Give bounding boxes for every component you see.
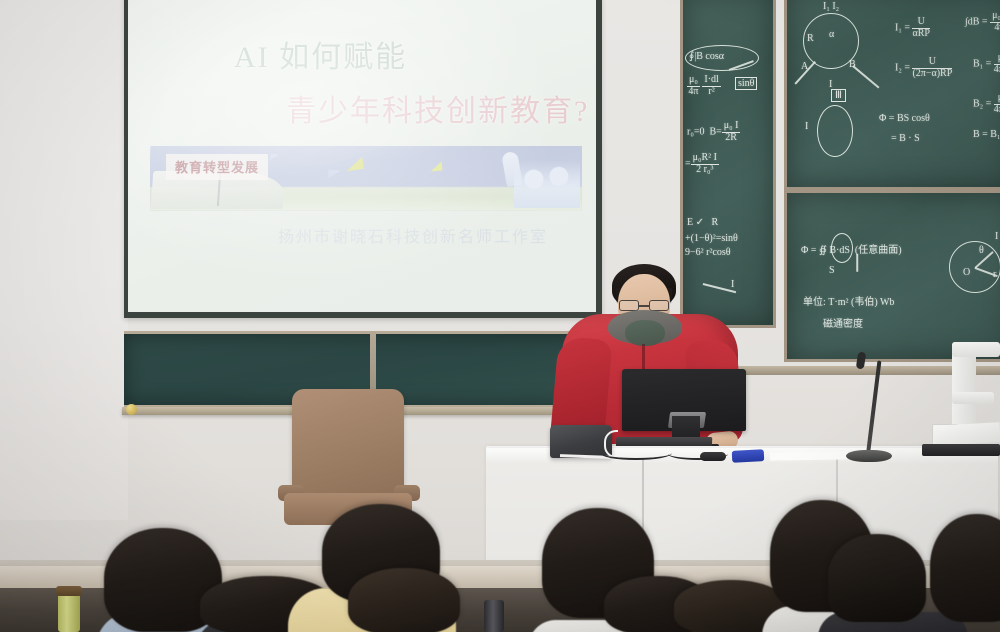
slide-title-line1: AI 如何赋能 <box>234 32 407 76</box>
chalk-formula: B₁ = μ₀4πR <box>973 53 1000 75</box>
projection-screen: AI 如何赋能 青少年科技创新教育? 教育转型发展 扬州市谢晓石科技创新名师工作… <box>128 0 596 312</box>
bottle-cap <box>56 586 82 596</box>
glasses-bridge <box>639 305 649 307</box>
chalk-formula: B₂ = μ₀4πR <box>973 93 1000 115</box>
microphone-base[interactable] <box>846 450 892 462</box>
chalk-label: r <box>993 269 996 280</box>
lecture-hall-scene: ∮|B cosα μ₀4π I·dlr² sinθ r₀=0 B=μ₀ I2R … <box>0 0 1000 632</box>
paper-plane-icon <box>430 161 443 171</box>
audience-head <box>828 534 926 622</box>
chalk-formula: I₂ = U(2π−α)RP <box>895 57 952 79</box>
chalk-formula: B = B₁ + B₂ <box>973 129 1000 140</box>
audience-head <box>348 568 460 632</box>
presenter-collar <box>608 310 682 344</box>
document-camera-arm <box>952 392 994 404</box>
chalk-formula: μ₀4π I·dlr² <box>687 75 721 97</box>
chalk-arrow <box>853 65 880 88</box>
chalk-formula: 单位: T·m² (韦伯) Wb <box>803 293 894 308</box>
slide-subtitle: 扬州市谢晓石科技创新名师工作室 <box>278 223 548 247</box>
cable <box>600 446 672 460</box>
paper-plane-icon <box>345 157 364 171</box>
rail-knob <box>126 404 137 415</box>
chalk-boxed: sinθ <box>735 77 757 90</box>
chalk-formula: =μ₀R² I2 r₀³ <box>685 153 719 175</box>
chalk-label: θ <box>979 245 984 256</box>
paper-plane-icon <box>269 153 279 161</box>
chalk-formula: Φ = BS cosθ <box>879 113 930 124</box>
chalk-label: I <box>805 121 808 132</box>
chalk-ellipse <box>685 45 759 71</box>
dark-bottle[interactable] <box>484 600 504 632</box>
mouse[interactable] <box>700 452 726 461</box>
paper-plane-icon <box>328 169 342 179</box>
chalk-formula: ∫dB = μ₀ I4π <box>965 11 1000 33</box>
equipment-base <box>922 444 1000 456</box>
chalk-label: O <box>963 267 970 278</box>
paper-sheet <box>770 451 848 460</box>
document-sheet <box>934 422 1000 445</box>
chalk-boxed: Ⅲ <box>831 89 846 102</box>
left-wall-panel <box>0 0 128 520</box>
chalkboard-lower-panel: Φ = ∯ B·dS (任意曲面) S 单位: T·m² (韦伯) Wb 磁通密… <box>784 190 1000 362</box>
chalk-formula: = B · S <box>891 133 920 144</box>
chalkboard-main-panel: I₁ I₂ R α A B I I₁ = UαRP I₂ = U(2π−α)RP… <box>784 0 1000 190</box>
document-camera-arm <box>952 342 1000 357</box>
chalk-formula: E ✓ R <box>687 217 718 228</box>
chair-backrest <box>292 389 404 497</box>
slide-banner-image: 教育转型发展 <box>150 146 582 211</box>
glasses-lens-left <box>619 300 639 311</box>
students-photo <box>514 160 580 208</box>
chalk-formula: +(1−θ)²=sinθ <box>685 233 738 244</box>
chalk-label: I₁ I₂ <box>823 1 839 12</box>
chalk-formula: 磁通密度 <box>823 315 863 330</box>
slide-title-line2: 青少年科技创新教育? <box>286 86 589 130</box>
blue-accessory[interactable] <box>732 449 765 463</box>
chalk-label: α <box>829 29 834 40</box>
chalk-arrow <box>856 254 858 272</box>
chalk-label: R <box>807 33 814 44</box>
chalk-label: S <box>829 265 835 276</box>
chalk-formula: r₀=0 B=μ₀ I2R <box>687 121 740 143</box>
banner-tag-label: 教育转型发展 <box>166 154 268 180</box>
chalk-loop <box>817 105 853 157</box>
chalk-formula: I₁ = UαRP <box>895 17 930 39</box>
chalk-ellipse <box>831 233 853 263</box>
green-thermos-bottle[interactable] <box>58 592 80 632</box>
chalk-label: I <box>995 231 998 242</box>
